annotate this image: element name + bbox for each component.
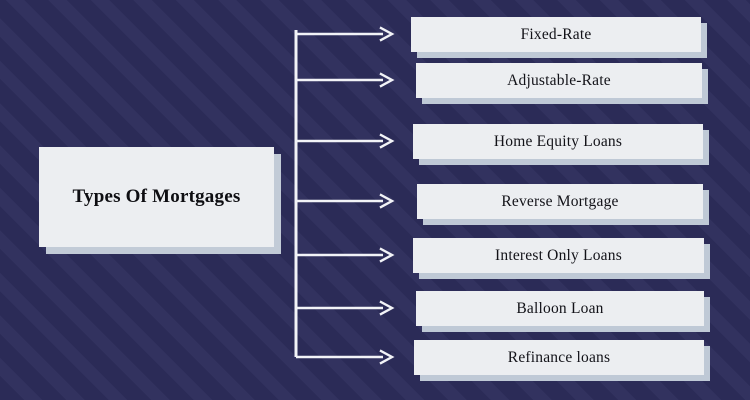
branch-node-face: Reverse Mortgage (417, 184, 703, 219)
branch-arrowhead-2 (381, 135, 392, 147)
branch-node-label: Balloon Loan (516, 300, 603, 318)
branch-node-face: Interest Only Loans (413, 238, 704, 273)
root-node-face: Types Of Mortgages (39, 147, 274, 247)
branch-arrowhead-1 (381, 74, 392, 86)
branch-node-face: Adjustable-Rate (416, 63, 702, 98)
branch-node-5[interactable]: Balloon Loan (416, 291, 704, 326)
root-node-label: Types Of Mortgages (73, 186, 241, 209)
branch-arrowhead-3 (381, 195, 392, 207)
branch-node-label: Interest Only Loans (495, 247, 622, 265)
branch-node-6[interactable]: Refinance loans (414, 340, 704, 375)
branch-node-label: Fixed-Rate (521, 26, 592, 44)
branch-arrowhead-4 (381, 249, 392, 261)
diagram-canvas: Types Of Mortgages Fixed-RateAdjustable-… (0, 0, 750, 400)
branch-node-label: Reverse Mortgage (501, 193, 618, 211)
root-node-types-of-mortgages[interactable]: Types Of Mortgages (39, 147, 274, 247)
branch-arrowhead-0 (381, 28, 392, 40)
branch-node-face: Fixed-Rate (411, 17, 701, 52)
branch-node-2[interactable]: Home Equity Loans (413, 124, 703, 159)
branch-node-0[interactable]: Fixed-Rate (411, 17, 701, 52)
branch-node-face: Home Equity Loans (413, 124, 703, 159)
branch-node-3[interactable]: Reverse Mortgage (417, 184, 703, 219)
branch-arrowhead-5 (381, 302, 392, 314)
branch-node-label: Home Equity Loans (494, 133, 622, 151)
branch-node-face: Balloon Loan (416, 291, 704, 326)
branch-node-label: Adjustable-Rate (507, 72, 611, 90)
branch-node-1[interactable]: Adjustable-Rate (416, 63, 702, 98)
branch-node-face: Refinance loans (414, 340, 704, 375)
branch-arrowhead-6 (381, 351, 392, 363)
branch-node-label: Refinance loans (508, 349, 610, 367)
branch-node-4[interactable]: Interest Only Loans (413, 238, 704, 273)
